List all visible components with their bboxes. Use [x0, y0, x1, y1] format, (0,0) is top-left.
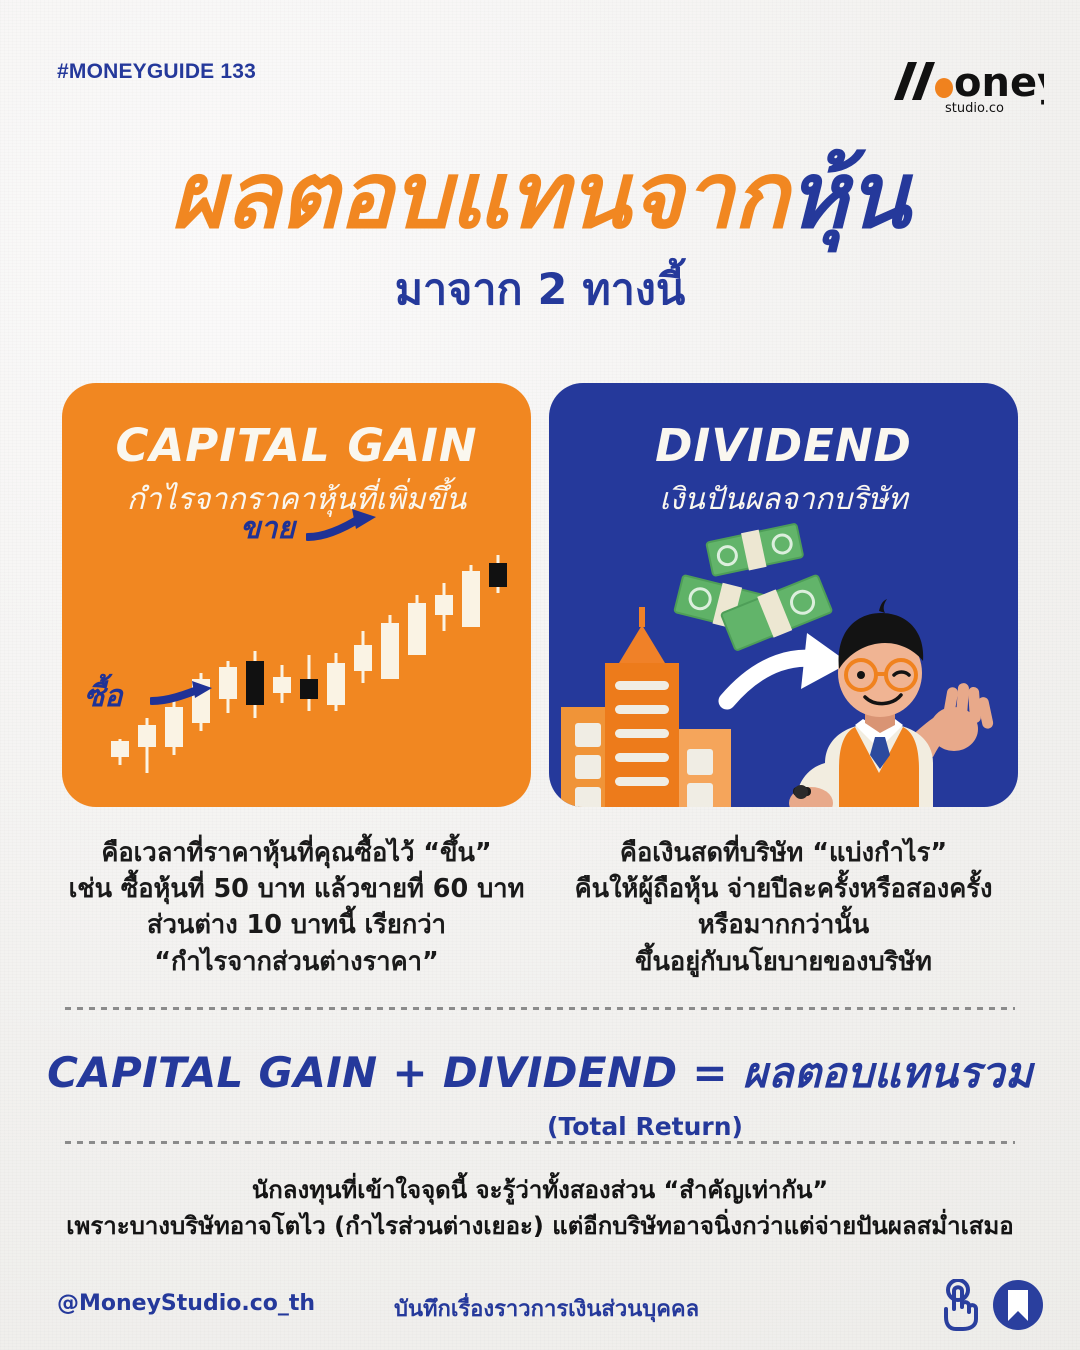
buy-label: ซื้อ — [84, 673, 122, 720]
total-return-note: (Total Return) — [0, 1112, 1080, 1141]
card-title-capital-gain: CAPITAL GAIN — [62, 419, 531, 472]
sell-label: ขาย — [240, 505, 295, 552]
dividend-illustration — [549, 511, 1018, 807]
svg-text:oney: oney — [954, 60, 1044, 106]
footer-handle[interactable]: @MoneyStudio.co_th — [57, 1291, 315, 1316]
card-capital-gain: CAPITAL GAIN กำไรจากราคาหุ้นที่เพิ่มขึ้น — [62, 383, 531, 807]
cards-row: CAPITAL GAIN กำไรจากราคาหุ้นที่เพิ่มขึ้น — [62, 383, 1018, 807]
money-studio-logo: oney studio.co — [874, 52, 1044, 114]
description-capital-gain: คือเวลาที่ราคาหุ้นที่คุณซื้อไว้ “ขึ้น” เ… — [62, 835, 531, 980]
description-dividend: คือเงินสดที่บริษัท “แบ่งกำไร” คืนให้ผู้ถ… — [549, 835, 1018, 980]
footer-tagline: บันทึกเรื่องราวการเงินส่วนบุคคล — [394, 1291, 699, 1326]
footer: @MoneyStudio.co_th บันทึกเรื่องราวการเงิ… — [57, 1283, 1044, 1343]
investor-person-icon — [789, 599, 994, 807]
formula-block: CAPITAL GAIN + DIVIDEND = ผลตอบแทนรวม (T… — [0, 1040, 1080, 1141]
buy-arrow-icon — [150, 679, 220, 713]
title-orange-part: ผลตอบแทนจาก — [171, 142, 788, 249]
divider-top — [65, 1007, 1015, 1010]
company-buildings-icon — [561, 607, 731, 807]
card-dividend: DIVIDEND เงินปันผลจากบริษัท — [549, 383, 1018, 807]
page-subtitle: มาจาก 2 ทางนี้ — [0, 255, 1080, 323]
infographic-page: #MONEYGUIDE 133 oney studio.co ผลตอบแทนจ… — [0, 0, 1080, 1350]
page-title: ผลตอบแทนจากหุ้น — [0, 148, 1080, 245]
card-title-dividend: DIVIDEND — [549, 419, 1018, 472]
title-blue-part: หุ้น — [788, 142, 910, 249]
title-block: ผลตอบแทนจากหุ้น มาจาก 2 ทางนี้ — [0, 148, 1080, 323]
divider-bottom — [65, 1141, 1015, 1144]
card-subtitle-capital-gain: กำไรจากราคาหุ้นที่เพิ่มขึ้น — [62, 476, 531, 523]
tap-icon[interactable] — [938, 1279, 982, 1331]
descriptions-row: คือเวลาที่ราคาหุ้นที่คุณซื้อไว้ “ขึ้น” เ… — [62, 835, 1018, 980]
bookmark-icon[interactable] — [992, 1279, 1044, 1331]
total-return-equation: CAPITAL GAIN + DIVIDEND = ผลตอบแทนรวม — [0, 1040, 1080, 1106]
svg-text:studio.co: studio.co — [945, 101, 1004, 114]
bottom-note: นักลงทุนที่เข้าใจจุดนี้ จะรู้ว่าทั้งสองส… — [0, 1172, 1080, 1244]
money-icon — [674, 522, 833, 653]
footer-icons — [938, 1279, 1044, 1331]
candlestick-chart — [62, 543, 531, 793]
sell-arrow-icon — [306, 507, 386, 545]
hashtag-label: #MONEYGUIDE 133 — [57, 60, 256, 84]
